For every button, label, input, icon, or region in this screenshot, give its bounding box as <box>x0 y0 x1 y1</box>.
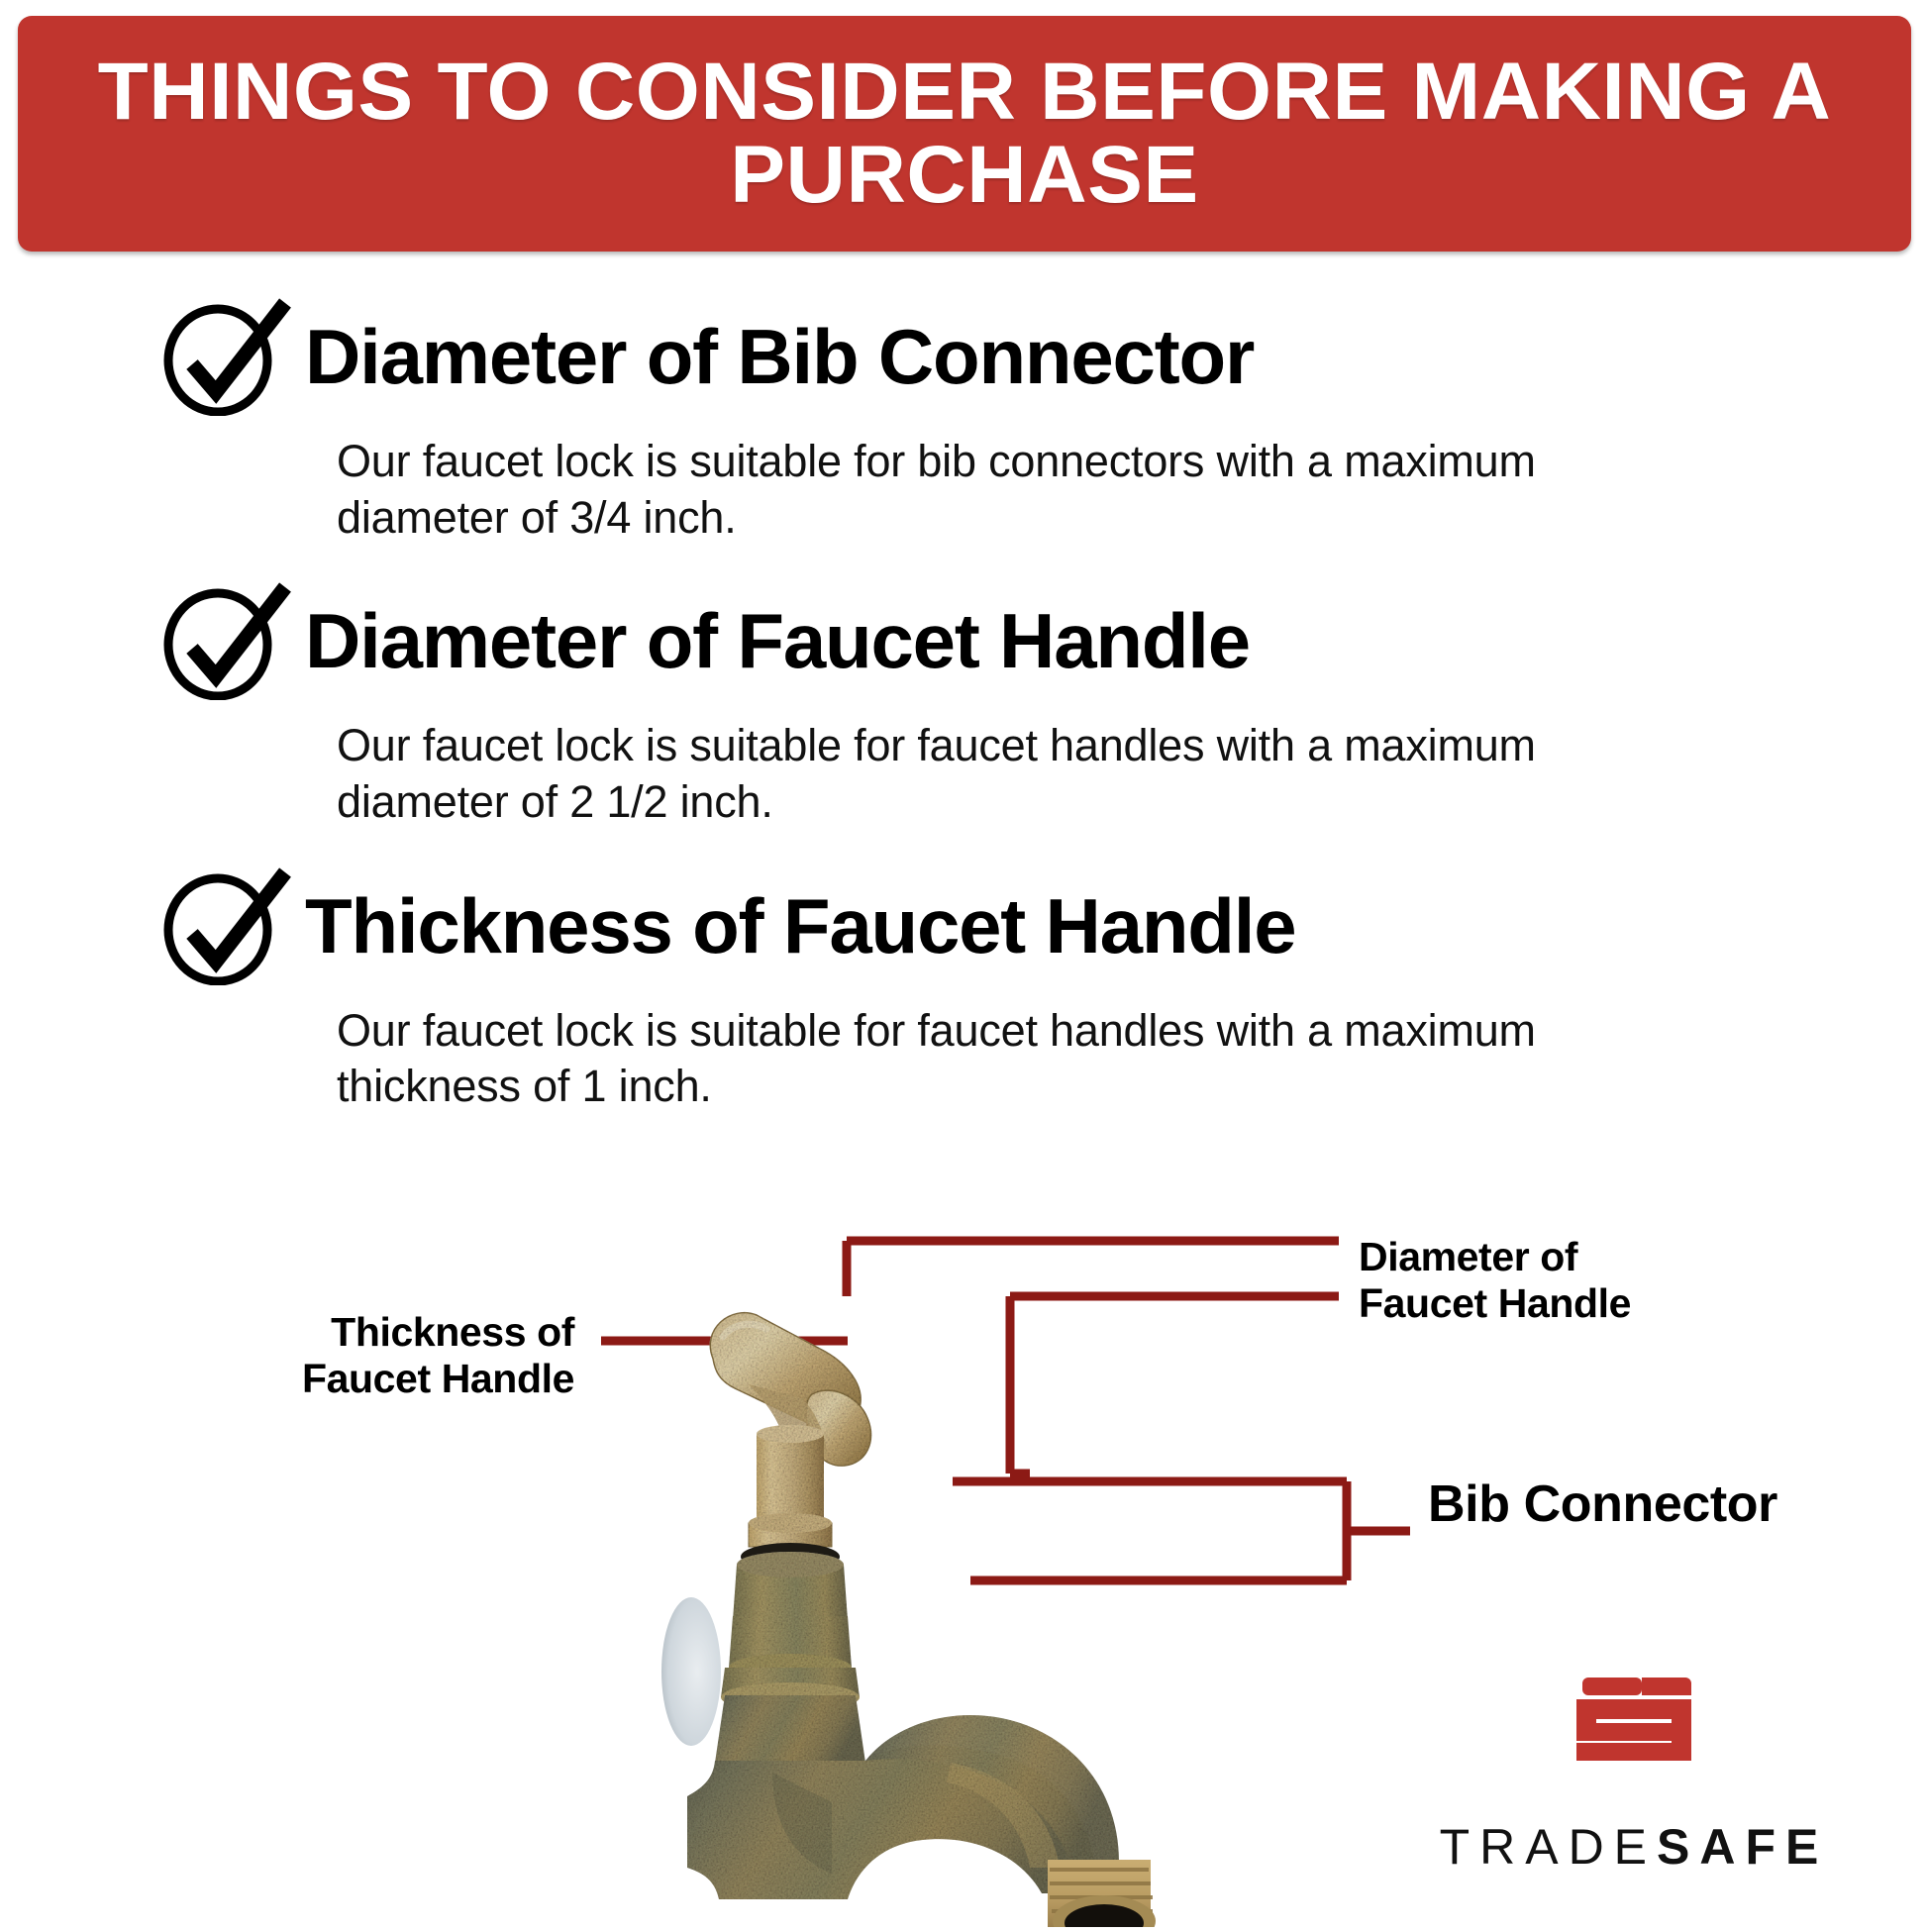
handle-stem <box>749 1425 832 1547</box>
header-banner: THINGS TO CONSIDER BEFORE MAKING A PURCH… <box>18 16 1911 252</box>
callout-label-line-2: Faucet Handle <box>158 1356 574 1402</box>
consideration-body-1: Our faucet lock is suitable for bib conn… <box>337 434 1624 546</box>
consideration-title-3: Thickness of Faucet Handle <box>305 887 1295 965</box>
tradesafe-s-mark-icon <box>1574 1674 1693 1765</box>
consideration-header-3: Thickness of Faucet Handle <box>0 866 1927 985</box>
callout-label-diameter-of-faucet-handle: Diameter of Faucet Handle <box>1359 1234 1775 1326</box>
callout-label-line-1: Bib Connector <box>1428 1475 1903 1534</box>
bib-connector <box>721 1552 860 1712</box>
page-title: THINGS TO CONSIDER BEFORE MAKING A PURCH… <box>96 51 1833 216</box>
logo-wordmark: TRADESAFE <box>1386 1818 1881 1876</box>
check-circle-icon <box>160 297 291 416</box>
callout-label-line-2: Faucet Handle <box>1359 1280 1775 1327</box>
consideration-header-1: Diameter of Bib Connector <box>0 297 1927 416</box>
wall-plate <box>661 1597 721 1746</box>
tradesafe-logo: TRADESAFE <box>1386 1674 1881 1876</box>
consideration-title-1: Diameter of Bib Connector <box>305 318 1254 395</box>
callout-label-bib-connector: Bib Connector <box>1428 1475 1903 1534</box>
consideration-body-3: Our faucet lock is suitable for faucet h… <box>337 1003 1624 1115</box>
check-circle-icon <box>160 581 291 700</box>
consideration-item-2: Diameter of Faucet Handle Our faucet loc… <box>0 581 1927 830</box>
check-circle-icon <box>160 866 291 985</box>
callout-label-thickness-of-faucet-handle: Thickness of Faucet Handle <box>158 1309 574 1401</box>
consideration-item-1: Diameter of Bib Connector Our faucet loc… <box>0 297 1927 546</box>
callout-label-line-1: Thickness of <box>158 1309 574 1356</box>
consideration-body-2: Our faucet lock is suitable for faucet h… <box>337 718 1624 830</box>
logo-word-trade: TRADE <box>1440 1819 1657 1875</box>
considerations-list: Diameter of Bib Connector Our faucet loc… <box>0 297 1927 1151</box>
consideration-header-2: Diameter of Faucet Handle <box>0 581 1927 700</box>
logo-word-safe: SAFE <box>1657 1819 1828 1875</box>
callout-label-line-1: Diameter of <box>1359 1234 1775 1280</box>
consideration-title-2: Diameter of Faucet Handle <box>305 602 1250 679</box>
faucet-photo <box>654 1268 1208 1927</box>
consideration-item-3: Thickness of Faucet Handle Our faucet lo… <box>0 866 1927 1115</box>
threaded-outlet <box>1048 1860 1156 1927</box>
